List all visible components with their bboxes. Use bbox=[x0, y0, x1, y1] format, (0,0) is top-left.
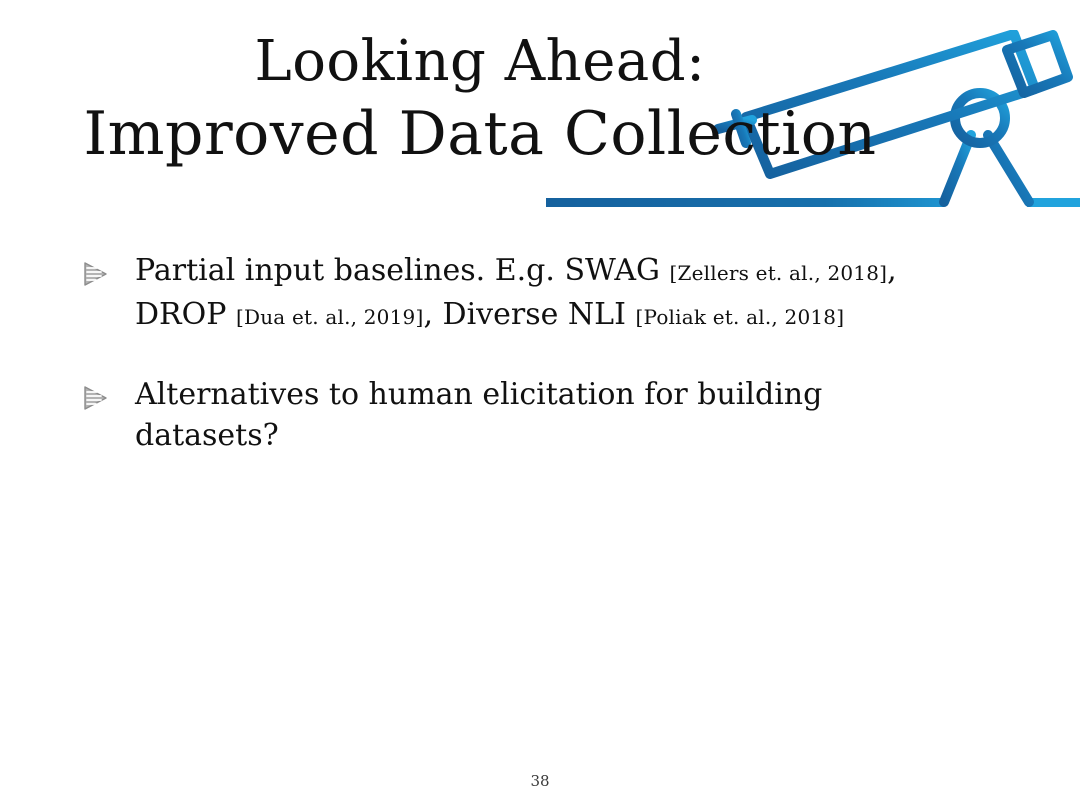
title-line-2: Improved Data Collection bbox=[0, 98, 960, 170]
slide-canvas: Looking Ahead: Improved Data Collection … bbox=[0, 0, 1080, 810]
bullet-text-1: Partial input baselines. E.g. SWAG [Zell… bbox=[135, 250, 965, 338]
bullet-text-2: Alternatives to human elicitation for bu… bbox=[135, 374, 965, 456]
bullet-1-seg-0: Partial input baselines. E.g. SWAG bbox=[135, 253, 670, 288]
page-number: 38 bbox=[0, 772, 1080, 790]
striped-triangle-bullet-icon bbox=[80, 383, 110, 413]
list-item: Alternatives to human elicitation for bu… bbox=[80, 374, 1020, 456]
list-item: Partial input baselines. E.g. SWAG [Zell… bbox=[80, 250, 1020, 338]
citation-dua: [Dua et. al., 2019] bbox=[236, 305, 423, 329]
striped-triangle-bullet-icon bbox=[80, 259, 110, 289]
citation-poliak: [Poliak et. al., 2018] bbox=[635, 305, 844, 329]
page-title: Looking Ahead: Improved Data Collection bbox=[0, 26, 960, 170]
bullet-1-seg-4: , Diverse NLI bbox=[423, 297, 635, 332]
blue-horizontal-rule bbox=[546, 198, 1080, 207]
title-line-1: Looking Ahead: bbox=[0, 26, 960, 98]
bullet-list: Partial input baselines. E.g. SWAG [Zell… bbox=[80, 250, 1020, 492]
citation-zellers: [Zellers et. al., 2018] bbox=[670, 261, 888, 285]
